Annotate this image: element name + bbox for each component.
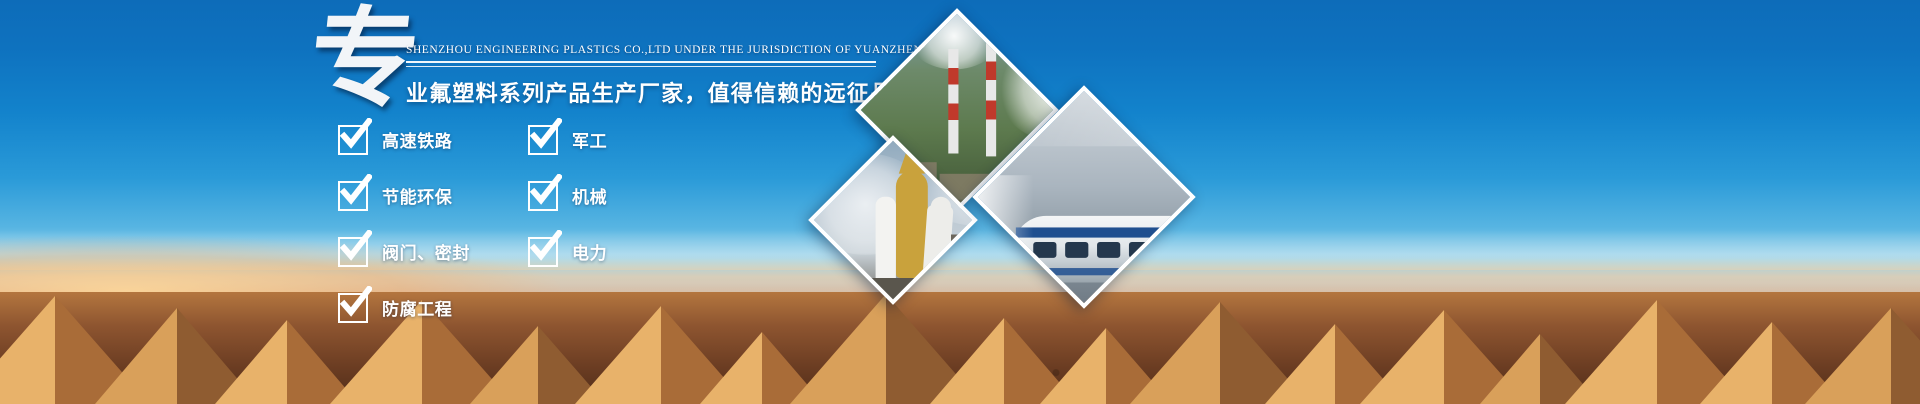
- feature-item[interactable]: 防腐工程: [338, 290, 470, 325]
- pyramid-skyline: [0, 244, 1920, 404]
- feature-item-label: 军工: [572, 127, 607, 152]
- feature-item[interactable]: 高速铁路: [338, 122, 470, 157]
- feature-item[interactable]: 节能环保: [338, 178, 470, 213]
- checkbox-checked-icon: [338, 293, 368, 323]
- feature-column-left: 高速铁路节能环保阀门、密封防腐工程: [338, 122, 470, 346]
- feature-item-label: 防腐工程: [382, 295, 452, 320]
- divider-rule-thick: [406, 61, 876, 63]
- promo-banner: 专 SHENZHOU ENGINEERING PLASTICS CO.,LTD …: [0, 0, 1920, 404]
- check-icon: [338, 230, 372, 264]
- checkbox-checked-icon: [528, 237, 558, 267]
- feature-item[interactable]: 电力: [528, 234, 607, 269]
- feature-item[interactable]: 阀门、密封: [338, 234, 470, 269]
- check-icon: [528, 118, 562, 152]
- check-icon: [338, 174, 372, 208]
- checkbox-checked-icon: [338, 125, 368, 155]
- english-tagline: SHENZHOU ENGINEERING PLASTICS CO.,LTD UN…: [406, 44, 876, 56]
- pyramid: [1805, 308, 1920, 404]
- feature-item-label: 机械: [572, 183, 607, 208]
- feature-item-label: 电力: [572, 239, 607, 264]
- check-icon: [528, 174, 562, 208]
- checkbox-checked-icon: [528, 125, 558, 155]
- feature-item[interactable]: 机械: [528, 178, 607, 213]
- checkbox-checked-icon: [528, 181, 558, 211]
- headline-block: SHENZHOU ENGINEERING PLASTICS CO.,LTD UN…: [406, 44, 876, 108]
- feature-item-label: 节能环保: [382, 183, 452, 208]
- feature-item-label: 阀门、密封: [382, 239, 470, 264]
- check-icon: [338, 286, 372, 320]
- checkbox-checked-icon: [338, 237, 368, 267]
- feature-item[interactable]: 军工: [528, 122, 607, 157]
- check-icon: [338, 118, 372, 152]
- chinese-subtitle: 业氟塑料系列产品生产厂家，值得信赖的远征品牌: [406, 76, 876, 108]
- divider-rule-thin: [406, 66, 876, 67]
- divider-rules: [406, 61, 876, 67]
- feature-column-right: 军工机械电力: [528, 122, 607, 290]
- feature-item-label: 高速铁路: [382, 127, 452, 152]
- checkbox-checked-icon: [338, 181, 368, 211]
- check-icon: [528, 230, 562, 264]
